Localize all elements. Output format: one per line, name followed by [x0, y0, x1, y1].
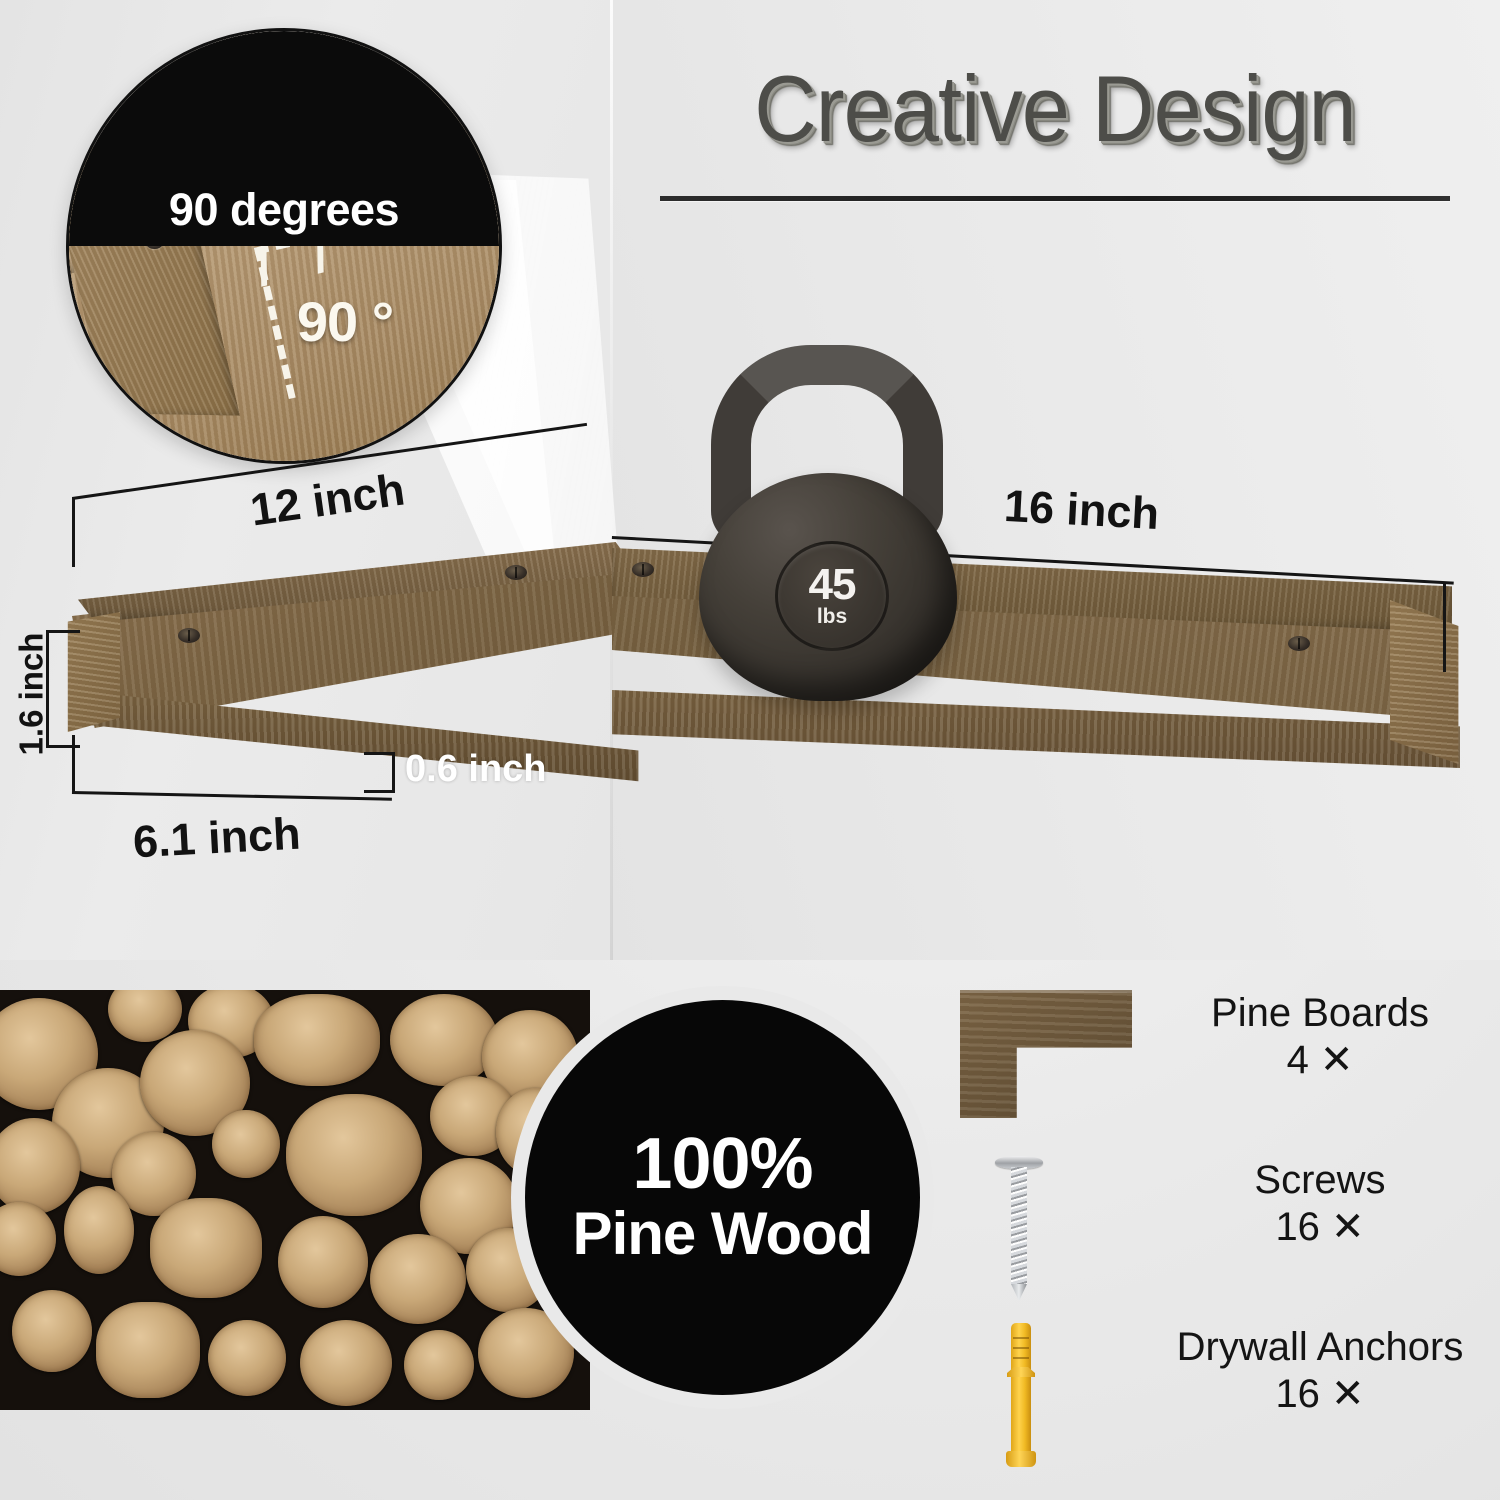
dim-6-1inch-label: 6.1 inch	[132, 808, 302, 869]
parts-list-item: Screws 16 ✕	[950, 1152, 1490, 1319]
screw-head-icon	[178, 628, 200, 643]
part-name: Screws	[1155, 1158, 1485, 1203]
dim-0-6inch-tick-bottom	[364, 790, 394, 793]
title-underline-rule	[660, 196, 1450, 201]
drywall-anchor-icon	[950, 1319, 1140, 1469]
part-quantity: 16 ✕	[1155, 1370, 1485, 1418]
dim-16inch-tick-right	[1443, 582, 1446, 672]
parts-list-item: Drywall Anchors 16 ✕	[950, 1319, 1490, 1486]
dim-1-6inch-tick-top	[46, 630, 80, 633]
part-quantity: 16 ✕	[1155, 1203, 1485, 1251]
parts-list: Pine Boards 4 ✕ Screws 16 ✕	[950, 985, 1490, 1486]
zoom-inset-banner-label: 90 degrees	[169, 184, 399, 236]
kettlebell-weight-demo: 45 lbs	[693, 345, 963, 700]
page-title-text: Creative Design	[673, 62, 1437, 156]
material-badge-line2: Pine Wood	[573, 1202, 873, 1267]
screw-head-icon	[1288, 636, 1310, 651]
dim-12inch-tick-left	[72, 497, 75, 567]
dim-6-1inch-tick-left	[72, 735, 75, 793]
kettlebell-weight-unit: lbs	[817, 605, 847, 628]
dim-1-6inch-label: 1.6 inch	[12, 633, 50, 756]
dim-16inch-label: 16 inch	[1003, 480, 1161, 540]
l-shaped-board-icon	[950, 985, 1140, 1135]
zoom-inset-90-degrees: 90 ° 90 degrees	[66, 28, 502, 464]
firewood-photo	[0, 990, 590, 1410]
part-name: Pine Boards	[1155, 991, 1485, 1036]
angle-label: 90 °	[297, 289, 393, 354]
screw-head-icon	[632, 562, 654, 577]
product-infographic: Creative Design 90 ° 90 degrees	[0, 0, 1500, 1500]
part-quantity: 4 ✕	[1155, 1036, 1485, 1084]
kettlebell-weight-value: 45	[809, 564, 856, 606]
page-title: Creative Design	[640, 62, 1470, 156]
kettlebell-weight-badge: 45 lbs	[775, 541, 889, 651]
parts-list-item: Pine Boards 4 ✕	[950, 985, 1490, 1152]
screw-icon	[950, 1152, 1140, 1302]
screw-head-icon	[505, 565, 527, 580]
material-badge-100-pine-wood: 100% Pine Wood	[525, 1000, 920, 1395]
material-badge-line1: 100%	[632, 1128, 812, 1201]
dim-0-6inch-label: 0.6 inch	[405, 748, 547, 791]
dim-0-6inch-bar	[392, 752, 395, 793]
part-name: Drywall Anchors	[1155, 1325, 1485, 1370]
dim-0-6inch-tick-top	[364, 752, 394, 755]
